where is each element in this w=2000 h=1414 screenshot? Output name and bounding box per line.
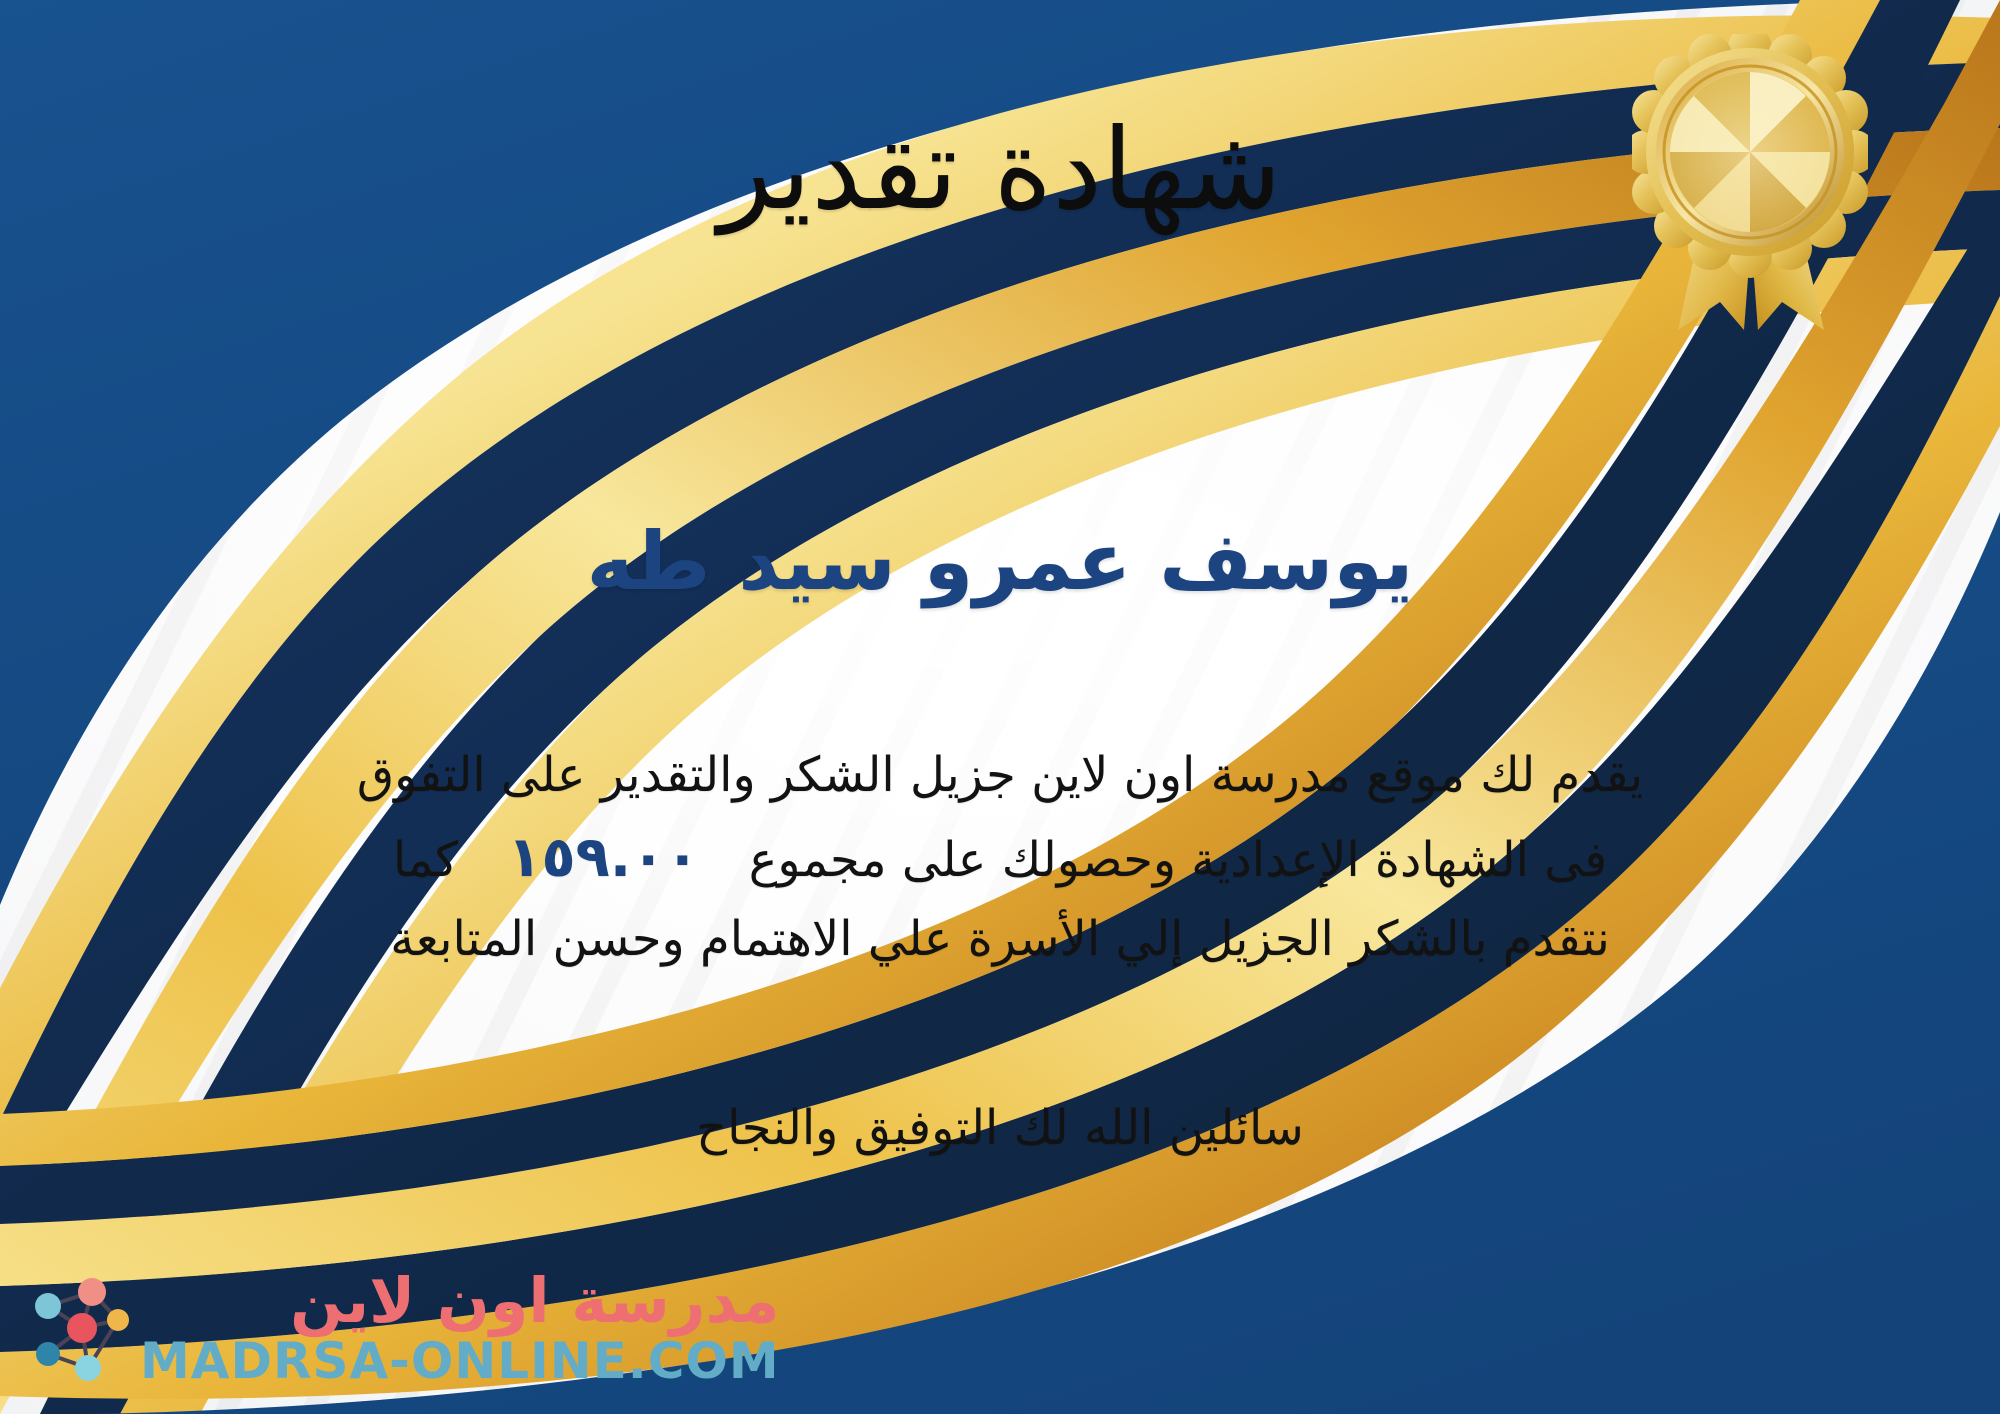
body-line-2: فى الشهادة الإعدادية وحصولك على مجموع ١٥… xyxy=(60,814,1940,902)
body-line-2-suffix: كما xyxy=(393,832,458,888)
certificate-canvas: شهادة تقدير يوسف عمرو سيد طه يقدم لك موق… xyxy=(0,0,2000,1414)
recipient-name: يوسف عمرو سيد طه xyxy=(0,516,2000,608)
certificate-title: شهادة تقدير xyxy=(0,108,2000,233)
score-value: ١٥٩.٠٠ xyxy=(473,825,733,890)
body-line-1: يقدم لك موقع مدرسة اون لاين جزيل الشكر و… xyxy=(60,738,1940,814)
certificate-body: يقدم لك موقع مدرسة اون لاين جزيل الشكر و… xyxy=(60,738,1940,978)
logo-arabic-text: مدرسة اون لاين xyxy=(290,1270,780,1332)
logo-domain-text: MADRSA-ONLINE.COM xyxy=(140,1336,780,1386)
body-line-2-prefix: فى الشهادة الإعدادية وحصولك على مجموع xyxy=(749,832,1607,888)
body-line-3: نتقدم بالشكر الجزيل إلي الأسرة علي الاهت… xyxy=(60,902,1940,978)
network-nodes-icon xyxy=(26,1272,130,1384)
closing-wish: سائلين الله لك التوفيق والنجاح xyxy=(0,1100,2000,1156)
site-logo[interactable]: مدرسة اون لاين MADRSA-ONLINE.COM xyxy=(26,1270,780,1386)
